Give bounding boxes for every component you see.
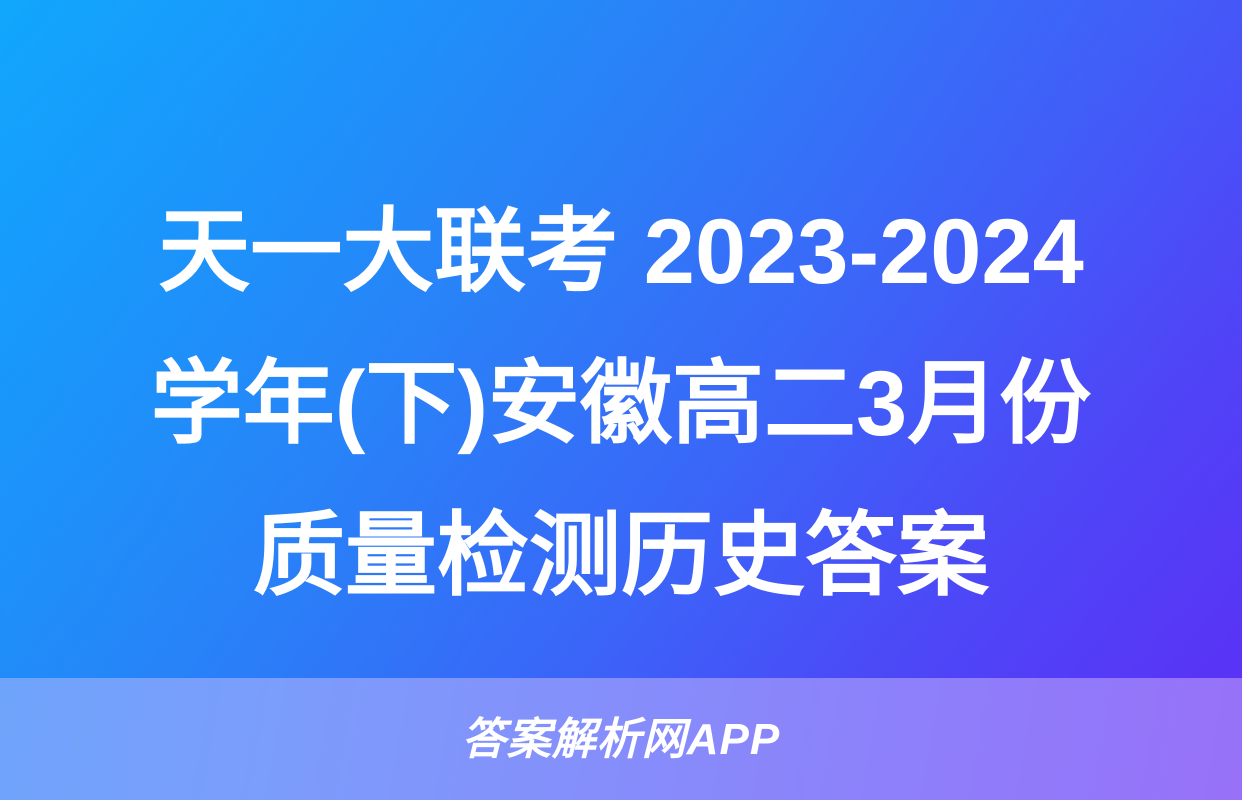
title-line-2: 学年(下)安徽高二3月份 bbox=[40, 328, 1202, 480]
footer-brand-band: 答案解析网APP bbox=[0, 678, 1242, 800]
title-line-3: 质量检测历史答案 bbox=[40, 480, 1202, 632]
exam-cover-card: 天一大联考 2023-2024 学年(下)安徽高二3月份 质量检测历史答案 答案… bbox=[0, 0, 1242, 800]
title-line-1: 天一大联考 2023-2024 bbox=[40, 176, 1202, 328]
brand-watermark-label: 答案解析网APP bbox=[462, 718, 780, 762]
page-title: 天一大联考 2023-2024 学年(下)安徽高二3月份 质量检测历史答案 bbox=[0, 176, 1242, 632]
